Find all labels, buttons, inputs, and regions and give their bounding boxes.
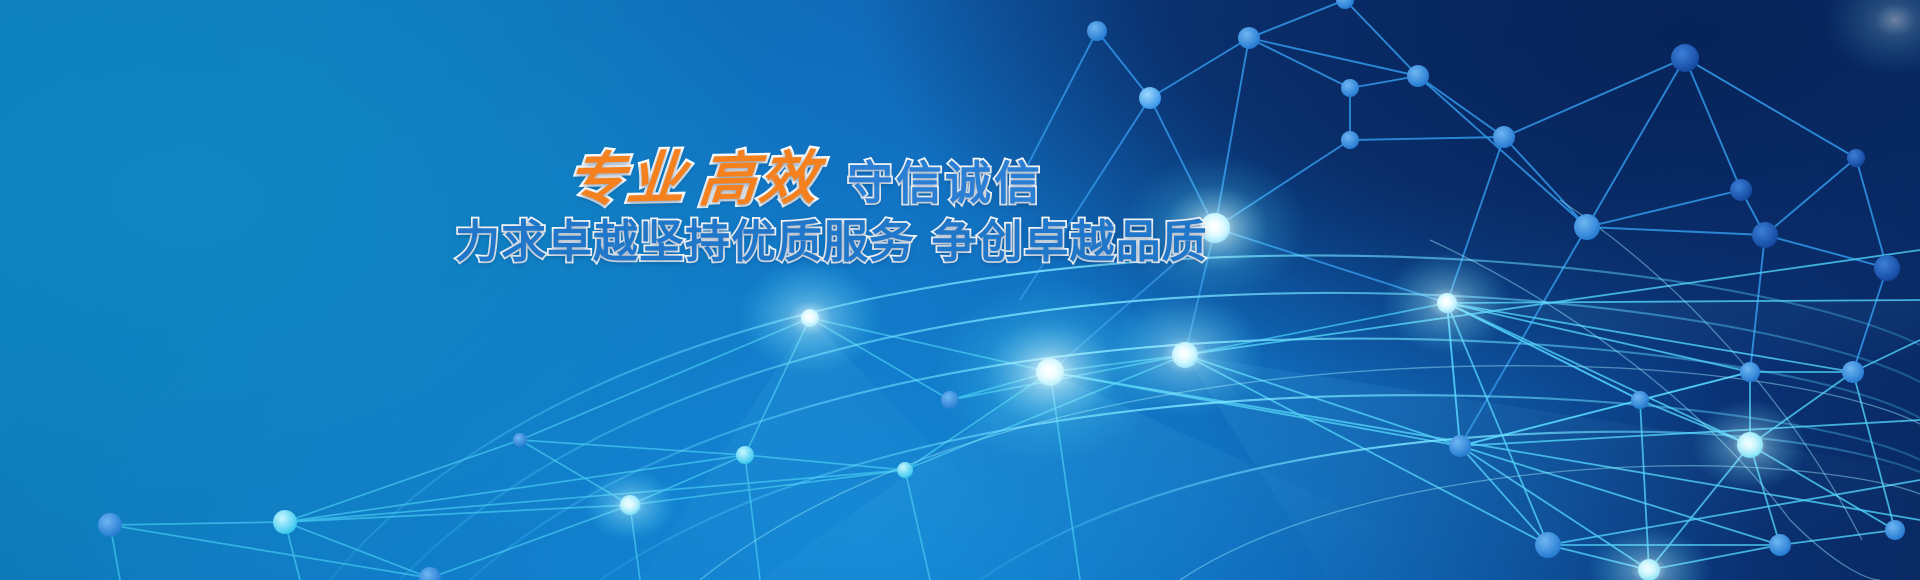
slogan-keyword-efficient: 高效 <box>696 149 821 210</box>
hero-banner: 专业 高效 守信诚信 力求卓越坚持优质服务 争创卓越品质 <box>0 0 1920 580</box>
headline-line-1: 专业 高效 守信诚信 <box>455 140 1155 208</box>
slogan-keyword-trustworthy: 守信诚信 <box>847 160 1043 206</box>
headline-block: 专业 高效 守信诚信 力求卓越坚持优质服务 争创卓越品质 <box>455 140 1155 265</box>
node-glow-layer <box>0 0 1920 580</box>
headline-line-2: 力求卓越坚持优质服务 争创卓越品质 <box>455 218 1155 265</box>
slogan-keyword-professional: 专业 <box>564 149 689 210</box>
